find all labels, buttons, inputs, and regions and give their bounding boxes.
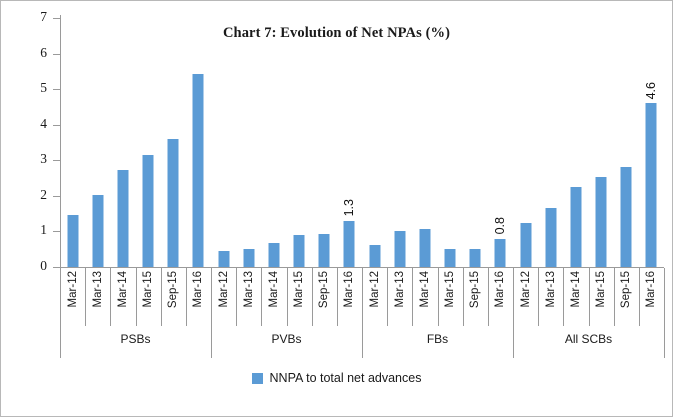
y-axis-tick-label: 3 (1, 151, 47, 167)
x-axis-label-cell: Sep-15 (161, 268, 186, 326)
bar-value-label: 1.3 (342, 199, 356, 216)
x-axis-label-cell: Mar-12 (513, 268, 538, 326)
x-axis-label-cell: Mar-12 (362, 268, 387, 326)
x-axis-label-cell: Mar-15 (438, 268, 463, 326)
group-label: PVBs (211, 326, 362, 352)
y-axis-tick (53, 54, 60, 55)
y-axis-tick (53, 125, 60, 126)
bar-slot: 1.3 (337, 18, 362, 267)
bar (168, 139, 179, 267)
bar (143, 155, 154, 267)
x-axis-label: Mar-16 (494, 271, 506, 307)
chart-container: Chart 7: Evolution of Net NPAs (%) 76543… (0, 0, 673, 417)
y-axis-tick (53, 89, 60, 90)
x-axis-separator (538, 268, 539, 326)
bar (445, 249, 456, 267)
bars-layer: 1.30.84.6 (60, 18, 664, 267)
bar-slot (513, 18, 538, 267)
bar (193, 74, 204, 267)
y-axis-tick-label: 1 (1, 222, 47, 238)
bar-slot (85, 18, 110, 267)
x-axis-label-cell: Mar-14 (261, 268, 286, 326)
x-axis-separator (287, 268, 288, 326)
y-axis-tick (53, 267, 60, 268)
x-axis-label-cell: Mar-12 (211, 268, 236, 326)
x-axis-label-cell: Mar-16 (186, 268, 211, 326)
x-axis-label-cell: Mar-15 (136, 268, 161, 326)
bar-value-label: 0.8 (493, 217, 507, 234)
bar-slot (312, 18, 337, 267)
bar (394, 231, 405, 267)
group-separator (513, 326, 514, 358)
bar-slot (387, 18, 412, 267)
x-axis-label-cell: Mar-13 (236, 268, 261, 326)
x-axis-label-cell: Mar-13 (85, 268, 110, 326)
y-axis-tick-label: 0 (1, 258, 47, 274)
y-axis-tick-label: 7 (1, 9, 47, 25)
x-axis-separator (563, 268, 564, 326)
bar-slot (438, 18, 463, 267)
x-axis-label-cell: Mar-13 (538, 268, 563, 326)
x-axis-label: Mar-12 (520, 271, 532, 307)
x-axis-separator (513, 268, 514, 326)
bar-slot (412, 18, 437, 267)
bar-slot: 0.8 (488, 18, 513, 267)
bar (646, 103, 657, 267)
x-axis-label-cell: Mar-15 (589, 268, 614, 326)
x-axis-label: Mar-14 (117, 271, 129, 307)
group-label-cell: PVBs (211, 326, 362, 358)
x-axis-label-cell: Sep-15 (463, 268, 488, 326)
x-axis-separator (60, 268, 61, 326)
bar-slot (362, 18, 387, 267)
x-axis-separator (136, 268, 137, 326)
x-axis-label-cell: Mar-12 (60, 268, 85, 326)
y-axis-tick-label: 5 (1, 80, 47, 96)
y-axis-tick-label: 2 (1, 187, 47, 203)
x-axis-label: Mar-15 (444, 271, 456, 307)
bar-slot (563, 18, 588, 267)
x-axis-label: Mar-15 (595, 271, 607, 307)
x-axis-label: Sep-15 (167, 271, 179, 308)
group-label-cell: PSBs (60, 326, 211, 358)
bar (495, 239, 506, 267)
x-axis-separator (589, 268, 590, 326)
x-axis-separator (463, 268, 464, 326)
bar-slot (261, 18, 286, 267)
bar-slot (60, 18, 85, 267)
x-axis-separator (186, 268, 187, 326)
group-label: FBs (362, 326, 513, 352)
bar (218, 251, 229, 267)
x-axis-label: Mar-16 (645, 271, 657, 307)
group-label: PSBs (60, 326, 211, 352)
bar (67, 215, 78, 267)
bar (520, 223, 531, 267)
bar-slot: 4.6 (639, 18, 664, 267)
group-separator (664, 326, 665, 358)
bar (243, 249, 254, 267)
x-axis-category-labels: Mar-12Mar-13Mar-14Mar-15Sep-15Mar-16Mar-… (60, 268, 664, 326)
x-axis-separator (312, 268, 313, 326)
bar (294, 235, 305, 267)
bar (419, 229, 430, 267)
x-axis-separator (614, 268, 615, 326)
x-axis-label: Mar-14 (268, 271, 280, 307)
y-axis-tick (53, 160, 60, 161)
bar-slot (186, 18, 211, 267)
x-axis-separator (362, 268, 363, 326)
x-axis-separator (488, 268, 489, 326)
bar (621, 167, 632, 267)
x-axis-label-cell: Mar-14 (110, 268, 135, 326)
x-axis-separator (438, 268, 439, 326)
x-axis-label-cell: Mar-14 (412, 268, 437, 326)
y-axis-tick (53, 18, 60, 19)
x-axis-label: Mar-16 (343, 271, 355, 307)
bar (545, 208, 556, 267)
bar (570, 187, 581, 267)
bar (92, 195, 103, 267)
x-axis-label: Mar-13 (243, 271, 255, 307)
x-axis-separator (236, 268, 237, 326)
group-label-cell: FBs (362, 326, 513, 358)
x-axis-label-cell: Sep-15 (312, 268, 337, 326)
x-axis-label-cell: Mar-16 (639, 268, 664, 326)
bar-slot (136, 18, 161, 267)
x-axis-label: Mar-14 (570, 271, 582, 307)
bar-value-label: 4.6 (644, 82, 658, 99)
group-label: All SCBs (513, 326, 664, 352)
bar-slot (161, 18, 186, 267)
x-axis-label: Sep-15 (469, 271, 481, 308)
x-axis-label: Mar-12 (218, 271, 230, 307)
x-axis-separator (85, 268, 86, 326)
x-axis-label: Sep-15 (620, 271, 632, 308)
x-axis-label: Mar-15 (293, 271, 305, 307)
x-axis-separator (211, 268, 212, 326)
x-axis-separator (161, 268, 162, 326)
bar-slot (110, 18, 135, 267)
legend-label: NNPA to total net advances (270, 371, 422, 385)
bar-slot (614, 18, 639, 267)
x-axis-separator (337, 268, 338, 326)
bar (369, 245, 380, 267)
y-axis-tick (53, 196, 60, 197)
y-axis-tick-label: 6 (1, 45, 47, 61)
bar (319, 234, 330, 267)
bar (117, 170, 128, 267)
group-separator (60, 326, 61, 358)
x-axis-label: Mar-15 (142, 271, 154, 307)
x-axis-separator (664, 268, 665, 326)
x-axis-separator (387, 268, 388, 326)
bar (596, 177, 607, 267)
x-axis-label: Mar-13 (92, 271, 104, 307)
x-axis-label: Sep-15 (318, 271, 330, 308)
bar-slot (538, 18, 563, 267)
legend-color-swatch (252, 373, 263, 384)
x-axis-label-cell: Sep-15 (614, 268, 639, 326)
x-axis-label: Mar-12 (67, 271, 79, 307)
x-axis-label-cell: Mar-14 (563, 268, 588, 326)
x-axis-separator (110, 268, 111, 326)
bar-slot (211, 18, 236, 267)
y-axis-tick-label: 4 (1, 116, 47, 132)
x-axis-label: Mar-13 (545, 271, 557, 307)
bar-slot (589, 18, 614, 267)
x-axis-separator (639, 268, 640, 326)
x-axis-group-labels: PSBsPVBsFBsAll SCBs (60, 326, 664, 358)
x-axis-label: Mar-16 (192, 271, 204, 307)
group-separator (211, 326, 212, 358)
y-axis-tick (53, 231, 60, 232)
bar (470, 249, 481, 267)
bar-slot (463, 18, 488, 267)
x-axis-label-cell: Mar-13 (387, 268, 412, 326)
group-label-cell: All SCBs (513, 326, 664, 358)
x-axis-label: Mar-14 (419, 271, 431, 307)
x-axis-label-cell: Mar-16 (488, 268, 513, 326)
chart-legend: NNPA to total net advances (1, 371, 672, 385)
bar-slot (236, 18, 261, 267)
x-axis-separator (261, 268, 262, 326)
group-separator (362, 326, 363, 358)
bar (268, 243, 279, 267)
bar (344, 221, 355, 267)
x-axis-label-cell: Mar-15 (287, 268, 312, 326)
x-axis-separator (412, 268, 413, 326)
x-axis-label-cell: Mar-16 (337, 268, 362, 326)
x-axis-label: Mar-13 (394, 271, 406, 307)
bar-slot (287, 18, 312, 267)
x-axis-label: Mar-12 (369, 271, 381, 307)
